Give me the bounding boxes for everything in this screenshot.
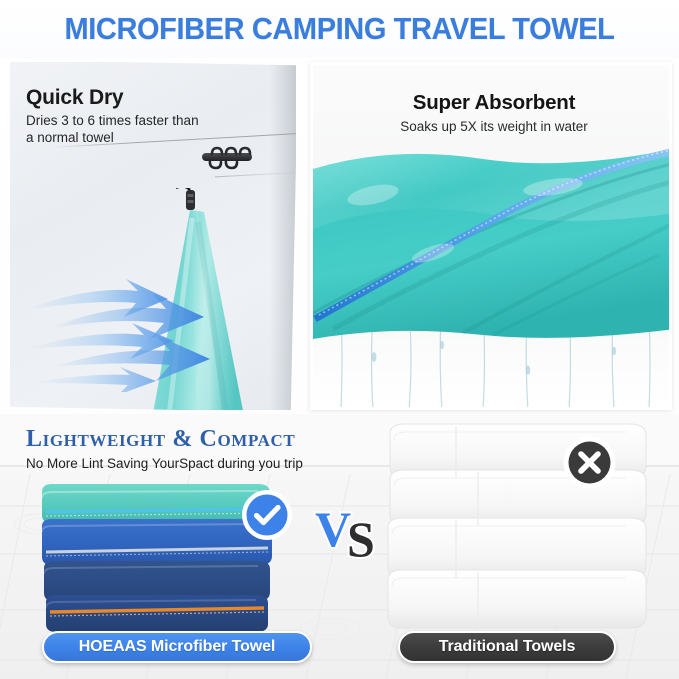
wall-hook-rack-icon — [196, 146, 258, 172]
badge-our-product: HOEAAS Microfiber Towel — [42, 631, 312, 663]
lightweight-heading-group: Lightweight & Compact No More Lint Savin… — [26, 426, 303, 471]
versus-mark: V S — [313, 500, 389, 562]
panel-quick-dry: Quick Dry Dries 3 to 6 times faster than… — [8, 60, 298, 412]
airflow-arrows-icon — [18, 277, 233, 392]
check-circle-icon — [240, 488, 294, 542]
lightweight-subtitle: No More Lint Saving YourSpact during you… — [26, 456, 303, 471]
quick-dry-subtitle: Dries 3 to 6 times faster than a normal … — [26, 113, 204, 146]
infographic-stage: MICROFIBER CAMPING TRAVEL TOWEL Quick Dr… — [0, 0, 679, 679]
super-absorbent-heading-group: Super Absorbent Soaks up 5X its weight i… — [313, 91, 672, 134]
panel-edge-shadow — [270, 62, 296, 410]
header-banner: MICROFIBER CAMPING TRAVEL TOWEL — [0, 0, 679, 58]
super-absorbent-title: Super Absorbent — [313, 91, 672, 115]
page-title: MICROFIBER CAMPING TRAVEL TOWEL — [64, 12, 614, 47]
cross-circle-icon — [562, 435, 617, 490]
versus-left-letter: V — [315, 501, 351, 557]
quick-dry-title: Quick Dry — [26, 86, 204, 110]
wet-twisted-towel-icon — [313, 143, 672, 353]
panel-super-absorbent: Super Absorbent Soaks up 5X its weight i… — [310, 62, 672, 410]
versus-right-letter: S — [347, 511, 375, 562]
badge-traditional-product: Traditional Towels — [398, 631, 616, 663]
quick-dry-heading-group: Quick Dry Dries 3 to 6 times faster than… — [26, 86, 204, 146]
super-absorbent-subtitle: Soaks up 5X its weight in water — [313, 119, 672, 134]
lightweight-title: Lightweight & Compact — [26, 426, 303, 453]
